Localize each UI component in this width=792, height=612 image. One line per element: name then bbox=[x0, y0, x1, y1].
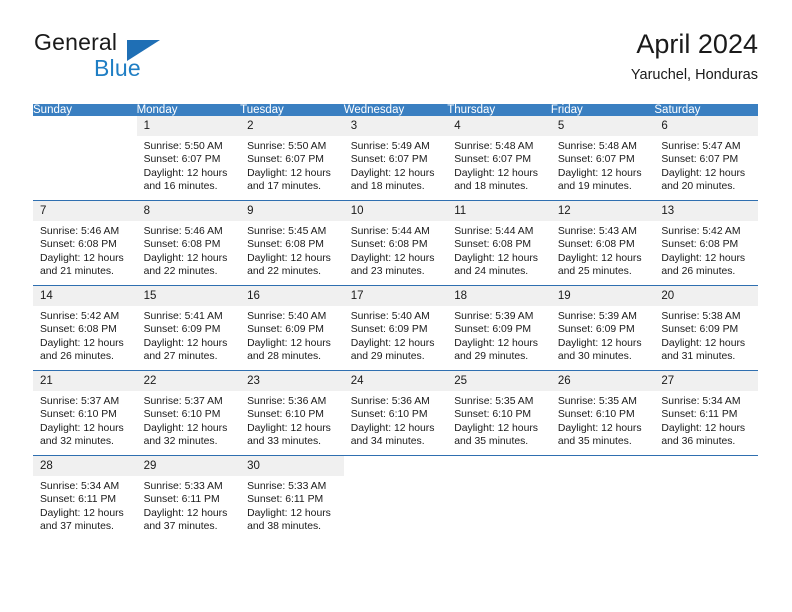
day-details: Sunrise: 5:39 AMSunset: 6:09 PMDaylight:… bbox=[551, 306, 655, 364]
sunrise-text: Sunrise: 5:39 AM bbox=[558, 310, 649, 323]
day-details: Sunrise: 5:35 AMSunset: 6:10 PMDaylight:… bbox=[447, 391, 551, 449]
day-number: 1 bbox=[137, 116, 241, 136]
sunrise-text: Sunrise: 5:48 AM bbox=[558, 140, 649, 153]
day-details: Sunrise: 5:47 AMSunset: 6:07 PMDaylight:… bbox=[654, 136, 758, 194]
day-details: Sunrise: 5:46 AMSunset: 6:08 PMDaylight:… bbox=[137, 221, 241, 279]
calendar-cell-day[interactable]: 10Sunrise: 5:44 AMSunset: 6:08 PMDayligh… bbox=[344, 201, 448, 286]
daylight-text: Daylight: 12 hours and 32 minutes. bbox=[144, 422, 235, 449]
day-number: 17 bbox=[344, 286, 448, 306]
daylight-text: Daylight: 12 hours and 34 minutes. bbox=[351, 422, 442, 449]
day-details: Sunrise: 5:42 AMSunset: 6:08 PMDaylight:… bbox=[33, 306, 137, 364]
daylight-text: Daylight: 12 hours and 23 minutes. bbox=[351, 252, 442, 279]
sunset-text: Sunset: 6:10 PM bbox=[144, 408, 235, 421]
day-details: Sunrise: 5:36 AMSunset: 6:10 PMDaylight:… bbox=[344, 391, 448, 449]
calendar-week-row: 14Sunrise: 5:42 AMSunset: 6:08 PMDayligh… bbox=[33, 286, 758, 371]
calendar-cell-day[interactable]: 21Sunrise: 5:37 AMSunset: 6:10 PMDayligh… bbox=[33, 371, 137, 456]
day-details: Sunrise: 5:33 AMSunset: 6:11 PMDaylight:… bbox=[137, 476, 241, 534]
weekday-header-tuesday: Tuesday bbox=[240, 104, 344, 116]
calendar-cell-day[interactable]: 3Sunrise: 5:49 AMSunset: 6:07 PMDaylight… bbox=[344, 116, 448, 201]
daylight-text: Daylight: 12 hours and 35 minutes. bbox=[558, 422, 649, 449]
day-details: Sunrise: 5:38 AMSunset: 6:09 PMDaylight:… bbox=[654, 306, 758, 364]
calendar-cell-day[interactable]: 15Sunrise: 5:41 AMSunset: 6:09 PMDayligh… bbox=[137, 286, 241, 371]
day-number: 7 bbox=[33, 201, 137, 221]
day-details: Sunrise: 5:36 AMSunset: 6:10 PMDaylight:… bbox=[240, 391, 344, 449]
day-details: Sunrise: 5:33 AMSunset: 6:11 PMDaylight:… bbox=[240, 476, 344, 534]
calendar-cell-empty bbox=[344, 456, 448, 541]
sunrise-text: Sunrise: 5:34 AM bbox=[661, 395, 752, 408]
sunset-text: Sunset: 6:07 PM bbox=[558, 153, 649, 166]
brand-logo[interactable]: General Blue bbox=[33, 28, 263, 86]
sunrise-text: Sunrise: 5:46 AM bbox=[144, 225, 235, 238]
day-number: 3 bbox=[344, 116, 448, 136]
calendar-cell-day[interactable]: 7Sunrise: 5:46 AMSunset: 6:08 PMDaylight… bbox=[33, 201, 137, 286]
day-number: 23 bbox=[240, 371, 344, 391]
weekday-header-monday: Monday bbox=[137, 104, 241, 116]
sunset-text: Sunset: 6:07 PM bbox=[144, 153, 235, 166]
calendar-cell-day[interactable]: 9Sunrise: 5:45 AMSunset: 6:08 PMDaylight… bbox=[240, 201, 344, 286]
daylight-text: Daylight: 12 hours and 26 minutes. bbox=[40, 337, 131, 364]
sunset-text: Sunset: 6:07 PM bbox=[247, 153, 338, 166]
day-details: Sunrise: 5:35 AMSunset: 6:10 PMDaylight:… bbox=[551, 391, 655, 449]
daylight-text: Daylight: 12 hours and 22 minutes. bbox=[247, 252, 338, 279]
calendar-cell-day[interactable]: 23Sunrise: 5:36 AMSunset: 6:10 PMDayligh… bbox=[240, 371, 344, 456]
sunrise-text: Sunrise: 5:33 AM bbox=[144, 480, 235, 493]
calendar-cell-day[interactable]: 30Sunrise: 5:33 AMSunset: 6:11 PMDayligh… bbox=[240, 456, 344, 541]
sunrise-text: Sunrise: 5:45 AM bbox=[247, 225, 338, 238]
sunset-text: Sunset: 6:08 PM bbox=[351, 238, 442, 251]
sunset-text: Sunset: 6:11 PM bbox=[661, 408, 752, 421]
calendar-cell-day[interactable]: 26Sunrise: 5:35 AMSunset: 6:10 PMDayligh… bbox=[551, 371, 655, 456]
day-details: Sunrise: 5:45 AMSunset: 6:08 PMDaylight:… bbox=[240, 221, 344, 279]
sunrise-text: Sunrise: 5:35 AM bbox=[558, 395, 649, 408]
day-number bbox=[447, 456, 551, 476]
sunset-text: Sunset: 6:08 PM bbox=[247, 238, 338, 251]
day-number: 29 bbox=[137, 456, 241, 476]
sunset-text: Sunset: 6:07 PM bbox=[661, 153, 752, 166]
day-number: 14 bbox=[33, 286, 137, 306]
sunset-text: Sunset: 6:09 PM bbox=[247, 323, 338, 336]
daylight-text: Daylight: 12 hours and 27 minutes. bbox=[144, 337, 235, 364]
calendar-cell-day[interactable]: 16Sunrise: 5:40 AMSunset: 6:09 PMDayligh… bbox=[240, 286, 344, 371]
day-number: 10 bbox=[344, 201, 448, 221]
sunset-text: Sunset: 6:09 PM bbox=[661, 323, 752, 336]
day-number: 2 bbox=[240, 116, 344, 136]
daylight-text: Daylight: 12 hours and 37 minutes. bbox=[144, 507, 235, 534]
day-number: 16 bbox=[240, 286, 344, 306]
day-details: Sunrise: 5:48 AMSunset: 6:07 PMDaylight:… bbox=[551, 136, 655, 194]
calendar-week-row: 7Sunrise: 5:46 AMSunset: 6:08 PMDaylight… bbox=[33, 201, 758, 286]
sunrise-text: Sunrise: 5:47 AM bbox=[661, 140, 752, 153]
sunrise-text: Sunrise: 5:46 AM bbox=[40, 225, 131, 238]
daylight-text: Daylight: 12 hours and 24 minutes. bbox=[454, 252, 545, 279]
day-details: Sunrise: 5:41 AMSunset: 6:09 PMDaylight:… bbox=[137, 306, 241, 364]
calendar-page: General Blue April 2024 Yaruchel, Hondur… bbox=[0, 0, 792, 612]
calendar-cell-day[interactable]: 2Sunrise: 5:50 AMSunset: 6:07 PMDaylight… bbox=[240, 116, 344, 201]
sunrise-text: Sunrise: 5:35 AM bbox=[454, 395, 545, 408]
sunset-text: Sunset: 6:09 PM bbox=[144, 323, 235, 336]
sunset-text: Sunset: 6:11 PM bbox=[144, 493, 235, 506]
sunrise-text: Sunrise: 5:36 AM bbox=[247, 395, 338, 408]
weekday-header-wednesday: Wednesday bbox=[344, 104, 448, 116]
page-title: April 2024 bbox=[631, 28, 758, 60]
calendar-cell-day[interactable]: 28Sunrise: 5:34 AMSunset: 6:11 PMDayligh… bbox=[33, 456, 137, 541]
day-details: Sunrise: 5:40 AMSunset: 6:09 PMDaylight:… bbox=[344, 306, 448, 364]
daylight-text: Daylight: 12 hours and 22 minutes. bbox=[144, 252, 235, 279]
sunset-text: Sunset: 6:09 PM bbox=[351, 323, 442, 336]
calendar-cell-day[interactable]: 6Sunrise: 5:47 AMSunset: 6:07 PMDaylight… bbox=[654, 116, 758, 201]
day-number: 20 bbox=[654, 286, 758, 306]
day-number: 11 bbox=[447, 201, 551, 221]
day-number: 30 bbox=[240, 456, 344, 476]
sunrise-text: Sunrise: 5:38 AM bbox=[661, 310, 752, 323]
sunrise-text: Sunrise: 5:50 AM bbox=[247, 140, 338, 153]
calendar-week-row: 1Sunrise: 5:50 AMSunset: 6:07 PMDaylight… bbox=[33, 116, 758, 201]
calendar-cell-empty bbox=[447, 456, 551, 541]
location-subtitle: Yaruchel, Honduras bbox=[631, 65, 758, 85]
day-number bbox=[551, 456, 655, 476]
daylight-text: Daylight: 12 hours and 30 minutes. bbox=[558, 337, 649, 364]
sunrise-text: Sunrise: 5:40 AM bbox=[247, 310, 338, 323]
calendar-cell-day[interactable]: 12Sunrise: 5:43 AMSunset: 6:08 PMDayligh… bbox=[551, 201, 655, 286]
calendar-cell-empty bbox=[654, 456, 758, 541]
day-details: Sunrise: 5:34 AMSunset: 6:11 PMDaylight:… bbox=[33, 476, 137, 534]
day-number bbox=[344, 456, 448, 476]
sunset-text: Sunset: 6:08 PM bbox=[40, 238, 131, 251]
calendar-week-row: 21Sunrise: 5:37 AMSunset: 6:10 PMDayligh… bbox=[33, 371, 758, 456]
sunrise-text: Sunrise: 5:48 AM bbox=[454, 140, 545, 153]
sunset-text: Sunset: 6:10 PM bbox=[454, 408, 545, 421]
day-number: 6 bbox=[654, 116, 758, 136]
calendar-body: 1Sunrise: 5:50 AMSunset: 6:07 PMDaylight… bbox=[33, 116, 758, 540]
daylight-text: Daylight: 12 hours and 31 minutes. bbox=[661, 337, 752, 364]
day-details: Sunrise: 5:48 AMSunset: 6:07 PMDaylight:… bbox=[447, 136, 551, 194]
daylight-text: Daylight: 12 hours and 26 minutes. bbox=[661, 252, 752, 279]
day-details: Sunrise: 5:42 AMSunset: 6:08 PMDaylight:… bbox=[654, 221, 758, 279]
sunrise-text: Sunrise: 5:37 AM bbox=[40, 395, 131, 408]
day-number: 25 bbox=[447, 371, 551, 391]
daylight-text: Daylight: 12 hours and 32 minutes. bbox=[40, 422, 131, 449]
calendar-cell-empty bbox=[33, 116, 137, 201]
daylight-text: Daylight: 12 hours and 29 minutes. bbox=[351, 337, 442, 364]
calendar-cell-day[interactable]: 5Sunrise: 5:48 AMSunset: 6:07 PMDaylight… bbox=[551, 116, 655, 201]
day-number: 12 bbox=[551, 201, 655, 221]
calendar-cell-day[interactable]: 1Sunrise: 5:50 AMSunset: 6:07 PMDaylight… bbox=[137, 116, 241, 201]
sunrise-text: Sunrise: 5:36 AM bbox=[351, 395, 442, 408]
daylight-text: Daylight: 12 hours and 17 minutes. bbox=[247, 167, 338, 194]
calendar-cell-day[interactable]: 27Sunrise: 5:34 AMSunset: 6:11 PMDayligh… bbox=[654, 371, 758, 456]
page-header: General Blue April 2024 Yaruchel, Hondur… bbox=[33, 28, 758, 90]
daylight-text: Daylight: 12 hours and 38 minutes. bbox=[247, 507, 338, 534]
day-number bbox=[33, 116, 137, 136]
calendar-cell-day[interactable]: 22Sunrise: 5:37 AMSunset: 6:10 PMDayligh… bbox=[137, 371, 241, 456]
daylight-text: Daylight: 12 hours and 16 minutes. bbox=[144, 167, 235, 194]
day-details: Sunrise: 5:37 AMSunset: 6:10 PMDaylight:… bbox=[33, 391, 137, 449]
sunrise-text: Sunrise: 5:49 AM bbox=[351, 140, 442, 153]
day-number: 5 bbox=[551, 116, 655, 136]
daylight-text: Daylight: 12 hours and 18 minutes. bbox=[454, 167, 545, 194]
weekday-header-saturday: Saturday bbox=[654, 104, 758, 116]
sunset-text: Sunset: 6:08 PM bbox=[558, 238, 649, 251]
title-block: April 2024 Yaruchel, Honduras bbox=[631, 28, 758, 85]
day-details: Sunrise: 5:49 AMSunset: 6:07 PMDaylight:… bbox=[344, 136, 448, 194]
day-number: 22 bbox=[137, 371, 241, 391]
daylight-text: Daylight: 12 hours and 29 minutes. bbox=[454, 337, 545, 364]
daylight-text: Daylight: 12 hours and 19 minutes. bbox=[558, 167, 649, 194]
calendar-cell-day[interactable]: 14Sunrise: 5:42 AMSunset: 6:08 PMDayligh… bbox=[33, 286, 137, 371]
sunset-text: Sunset: 6:08 PM bbox=[661, 238, 752, 251]
daylight-text: Daylight: 12 hours and 18 minutes. bbox=[351, 167, 442, 194]
sunset-text: Sunset: 6:11 PM bbox=[40, 493, 131, 506]
sunset-text: Sunset: 6:07 PM bbox=[351, 153, 442, 166]
day-number: 9 bbox=[240, 201, 344, 221]
brand-name-general: General bbox=[34, 29, 117, 56]
sunrise-text: Sunrise: 5:42 AM bbox=[40, 310, 131, 323]
daylight-text: Daylight: 12 hours and 36 minutes. bbox=[661, 422, 752, 449]
sunset-text: Sunset: 6:08 PM bbox=[454, 238, 545, 251]
sunrise-text: Sunrise: 5:41 AM bbox=[144, 310, 235, 323]
sunrise-text: Sunrise: 5:37 AM bbox=[144, 395, 235, 408]
day-number: 21 bbox=[33, 371, 137, 391]
day-details: Sunrise: 5:50 AMSunset: 6:07 PMDaylight:… bbox=[137, 136, 241, 194]
sunrise-text: Sunrise: 5:39 AM bbox=[454, 310, 545, 323]
day-number: 13 bbox=[654, 201, 758, 221]
calendar-cell-day[interactable]: 13Sunrise: 5:42 AMSunset: 6:08 PMDayligh… bbox=[654, 201, 758, 286]
calendar-cell-day[interactable]: 4Sunrise: 5:48 AMSunset: 6:07 PMDaylight… bbox=[447, 116, 551, 201]
daylight-text: Daylight: 12 hours and 33 minutes. bbox=[247, 422, 338, 449]
sunrise-text: Sunrise: 5:50 AM bbox=[144, 140, 235, 153]
brand-name-blue: Blue bbox=[94, 55, 141, 82]
day-details: Sunrise: 5:44 AMSunset: 6:08 PMDaylight:… bbox=[344, 221, 448, 279]
day-details: Sunrise: 5:40 AMSunset: 6:09 PMDaylight:… bbox=[240, 306, 344, 364]
calendar-cell-day[interactable]: 18Sunrise: 5:39 AMSunset: 6:09 PMDayligh… bbox=[447, 286, 551, 371]
daylight-text: Daylight: 12 hours and 28 minutes. bbox=[247, 337, 338, 364]
day-number: 26 bbox=[551, 371, 655, 391]
day-number: 19 bbox=[551, 286, 655, 306]
day-details: Sunrise: 5:46 AMSunset: 6:08 PMDaylight:… bbox=[33, 221, 137, 279]
calendar-grid: Sunday Monday Tuesday Wednesday Thursday… bbox=[33, 104, 758, 540]
calendar-cell-day[interactable]: 25Sunrise: 5:35 AMSunset: 6:10 PMDayligh… bbox=[447, 371, 551, 456]
daylight-text: Daylight: 12 hours and 35 minutes. bbox=[454, 422, 545, 449]
daylight-text: Daylight: 12 hours and 20 minutes. bbox=[661, 167, 752, 194]
sunset-text: Sunset: 6:07 PM bbox=[454, 153, 545, 166]
day-number: 27 bbox=[654, 371, 758, 391]
sunrise-text: Sunrise: 5:43 AM bbox=[558, 225, 649, 238]
day-details: Sunrise: 5:39 AMSunset: 6:09 PMDaylight:… bbox=[447, 306, 551, 364]
daylight-text: Daylight: 12 hours and 37 minutes. bbox=[40, 507, 131, 534]
daylight-text: Daylight: 12 hours and 25 minutes. bbox=[558, 252, 649, 279]
sunrise-text: Sunrise: 5:44 AM bbox=[351, 225, 442, 238]
weekday-header-thursday: Thursday bbox=[447, 104, 551, 116]
calendar-cell-day[interactable]: 11Sunrise: 5:44 AMSunset: 6:08 PMDayligh… bbox=[447, 201, 551, 286]
calendar-cell-day[interactable]: 24Sunrise: 5:36 AMSunset: 6:10 PMDayligh… bbox=[344, 371, 448, 456]
sunset-text: Sunset: 6:10 PM bbox=[558, 408, 649, 421]
sunset-text: Sunset: 6:11 PM bbox=[247, 493, 338, 506]
day-number: 4 bbox=[447, 116, 551, 136]
sunrise-text: Sunrise: 5:44 AM bbox=[454, 225, 545, 238]
day-number: 8 bbox=[137, 201, 241, 221]
day-details: Sunrise: 5:50 AMSunset: 6:07 PMDaylight:… bbox=[240, 136, 344, 194]
sunrise-text: Sunrise: 5:40 AM bbox=[351, 310, 442, 323]
calendar-cell-day[interactable]: 17Sunrise: 5:40 AMSunset: 6:09 PMDayligh… bbox=[344, 286, 448, 371]
sunrise-text: Sunrise: 5:33 AM bbox=[247, 480, 338, 493]
calendar-cell-day[interactable]: 19Sunrise: 5:39 AMSunset: 6:09 PMDayligh… bbox=[551, 286, 655, 371]
calendar-week-row: 28Sunrise: 5:34 AMSunset: 6:11 PMDayligh… bbox=[33, 456, 758, 541]
sunset-text: Sunset: 6:10 PM bbox=[247, 408, 338, 421]
calendar-cell-day[interactable]: 20Sunrise: 5:38 AMSunset: 6:09 PMDayligh… bbox=[654, 286, 758, 371]
calendar-cell-day[interactable]: 8Sunrise: 5:46 AMSunset: 6:08 PMDaylight… bbox=[137, 201, 241, 286]
day-number: 24 bbox=[344, 371, 448, 391]
day-details: Sunrise: 5:43 AMSunset: 6:08 PMDaylight:… bbox=[551, 221, 655, 279]
calendar-cell-empty bbox=[551, 456, 655, 541]
weekday-header-row: Sunday Monday Tuesday Wednesday Thursday… bbox=[33, 104, 758, 116]
day-number: 28 bbox=[33, 456, 137, 476]
sunrise-text: Sunrise: 5:42 AM bbox=[661, 225, 752, 238]
sunset-text: Sunset: 6:08 PM bbox=[144, 238, 235, 251]
sunrise-text: Sunrise: 5:34 AM bbox=[40, 480, 131, 493]
sunset-text: Sunset: 6:10 PM bbox=[40, 408, 131, 421]
day-number bbox=[654, 456, 758, 476]
calendar-cell-day[interactable]: 29Sunrise: 5:33 AMSunset: 6:11 PMDayligh… bbox=[137, 456, 241, 541]
sunset-text: Sunset: 6:09 PM bbox=[558, 323, 649, 336]
weekday-header-friday: Friday bbox=[551, 104, 655, 116]
sunset-text: Sunset: 6:08 PM bbox=[40, 323, 131, 336]
day-details: Sunrise: 5:44 AMSunset: 6:08 PMDaylight:… bbox=[447, 221, 551, 279]
weekday-header-sunday: Sunday bbox=[33, 104, 137, 116]
day-number: 18 bbox=[447, 286, 551, 306]
day-details: Sunrise: 5:34 AMSunset: 6:11 PMDaylight:… bbox=[654, 391, 758, 449]
sunset-text: Sunset: 6:09 PM bbox=[454, 323, 545, 336]
sunset-text: Sunset: 6:10 PM bbox=[351, 408, 442, 421]
day-details: Sunrise: 5:37 AMSunset: 6:10 PMDaylight:… bbox=[137, 391, 241, 449]
day-number: 15 bbox=[137, 286, 241, 306]
daylight-text: Daylight: 12 hours and 21 minutes. bbox=[40, 252, 131, 279]
